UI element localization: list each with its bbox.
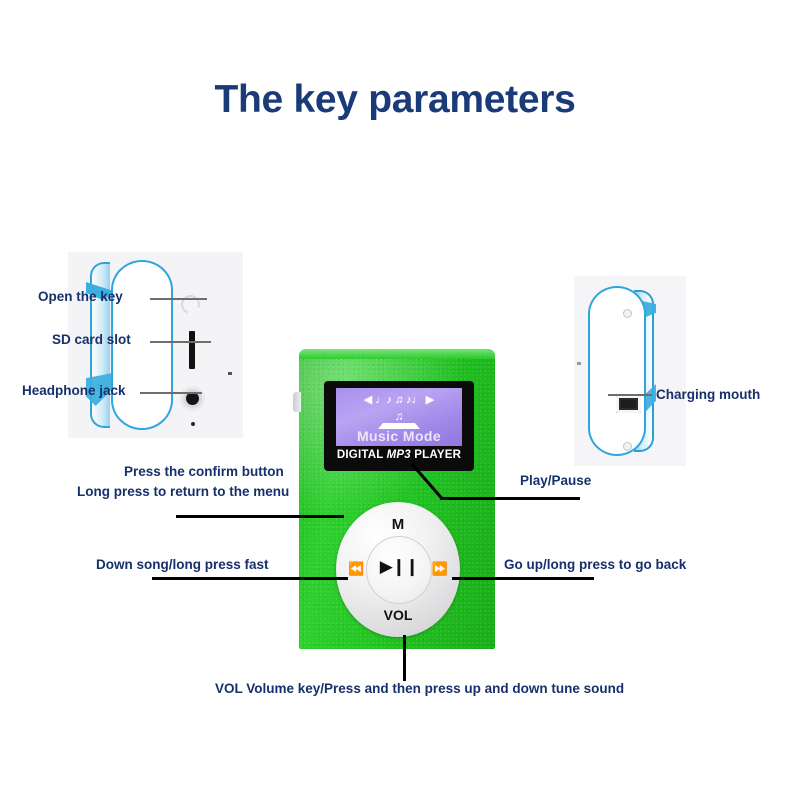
right-panel-speck — [577, 362, 581, 365]
menu-button[interactable]: M — [336, 516, 460, 533]
brand-mp3: MP3 — [387, 449, 411, 461]
diagram-canvas: The key parameters Open the key SD card … — [0, 0, 790, 790]
label-confirm-line1: Press the confirm button — [124, 463, 284, 480]
label-go-up: Go up/long press to go back — [504, 556, 686, 573]
sd-card-slot-icon — [189, 331, 195, 369]
lcd-music-note-icon: ♫ — [336, 410, 462, 422]
label-confirm-line2: Long press to return to the menu — [77, 483, 289, 500]
control-wheel[interactable]: M ⏪ ⏩ VOL ▶❙❙ — [336, 502, 460, 637]
leader-charging-mouth — [608, 394, 652, 396]
brand-suffix: PLAYER — [411, 449, 461, 461]
key-ring-hole-icon — [178, 292, 203, 317]
leader-open-the-key — [150, 298, 207, 300]
label-open-the-key: Open the key — [38, 288, 123, 305]
headphone-jack-icon — [180, 386, 205, 411]
top-bevel — [299, 349, 495, 359]
label-volume: VOL Volume key/Press and then press up a… — [215, 680, 624, 697]
right-device-view — [574, 276, 686, 466]
left-panel-speck — [228, 372, 232, 375]
leader-sd-card-slot — [150, 341, 211, 343]
lcd-status-icons: ◀ ♩♪ ♫ ♪♩ ▶ — [336, 392, 462, 408]
left-device-pinhole-icon — [191, 422, 195, 426]
leader-headphone-jack — [140, 392, 202, 394]
play-pause-button[interactable]: ▶❙❙ — [337, 557, 461, 577]
volume-button[interactable]: VOL — [336, 607, 460, 623]
leader-volume — [403, 635, 406, 681]
lcd-mode-text: Music Mode — [336, 428, 462, 444]
lcd-screen: ◀ ♩♪ ♫ ♪♩ ▶ ♫ Music Mode — [336, 388, 462, 446]
label-headphone-jack: Headphone jack — [22, 382, 126, 399]
leader-play-pause-h — [440, 497, 580, 500]
label-play-pause: Play/Pause — [520, 472, 591, 489]
right-device-body — [588, 286, 646, 456]
brand-prefix: DIGITAL — [337, 449, 387, 461]
side-button-nub — [293, 392, 301, 412]
label-charging-mouth: Charging mouth — [656, 386, 760, 403]
page-title: The key parameters — [0, 78, 790, 122]
screw-top-icon — [623, 309, 632, 318]
brand-text: DIGITAL MP3 PLAYER — [324, 449, 474, 461]
leader-go-up — [452, 577, 594, 580]
label-sd-card-slot: SD card slot — [52, 331, 131, 348]
screen-bezel: ◀ ♩♪ ♫ ♪♩ ▶ ♫ Music Mode DIGITAL MP3 PLA… — [324, 381, 474, 471]
charging-port-icon — [616, 395, 641, 413]
leader-down-song — [152, 577, 348, 580]
label-down-song: Down song/long press fast — [96, 556, 269, 573]
center-button[interactable]: ▶❙❙ — [366, 536, 432, 604]
screw-bottom-icon — [623, 442, 632, 451]
leader-confirm-button — [176, 515, 344, 518]
